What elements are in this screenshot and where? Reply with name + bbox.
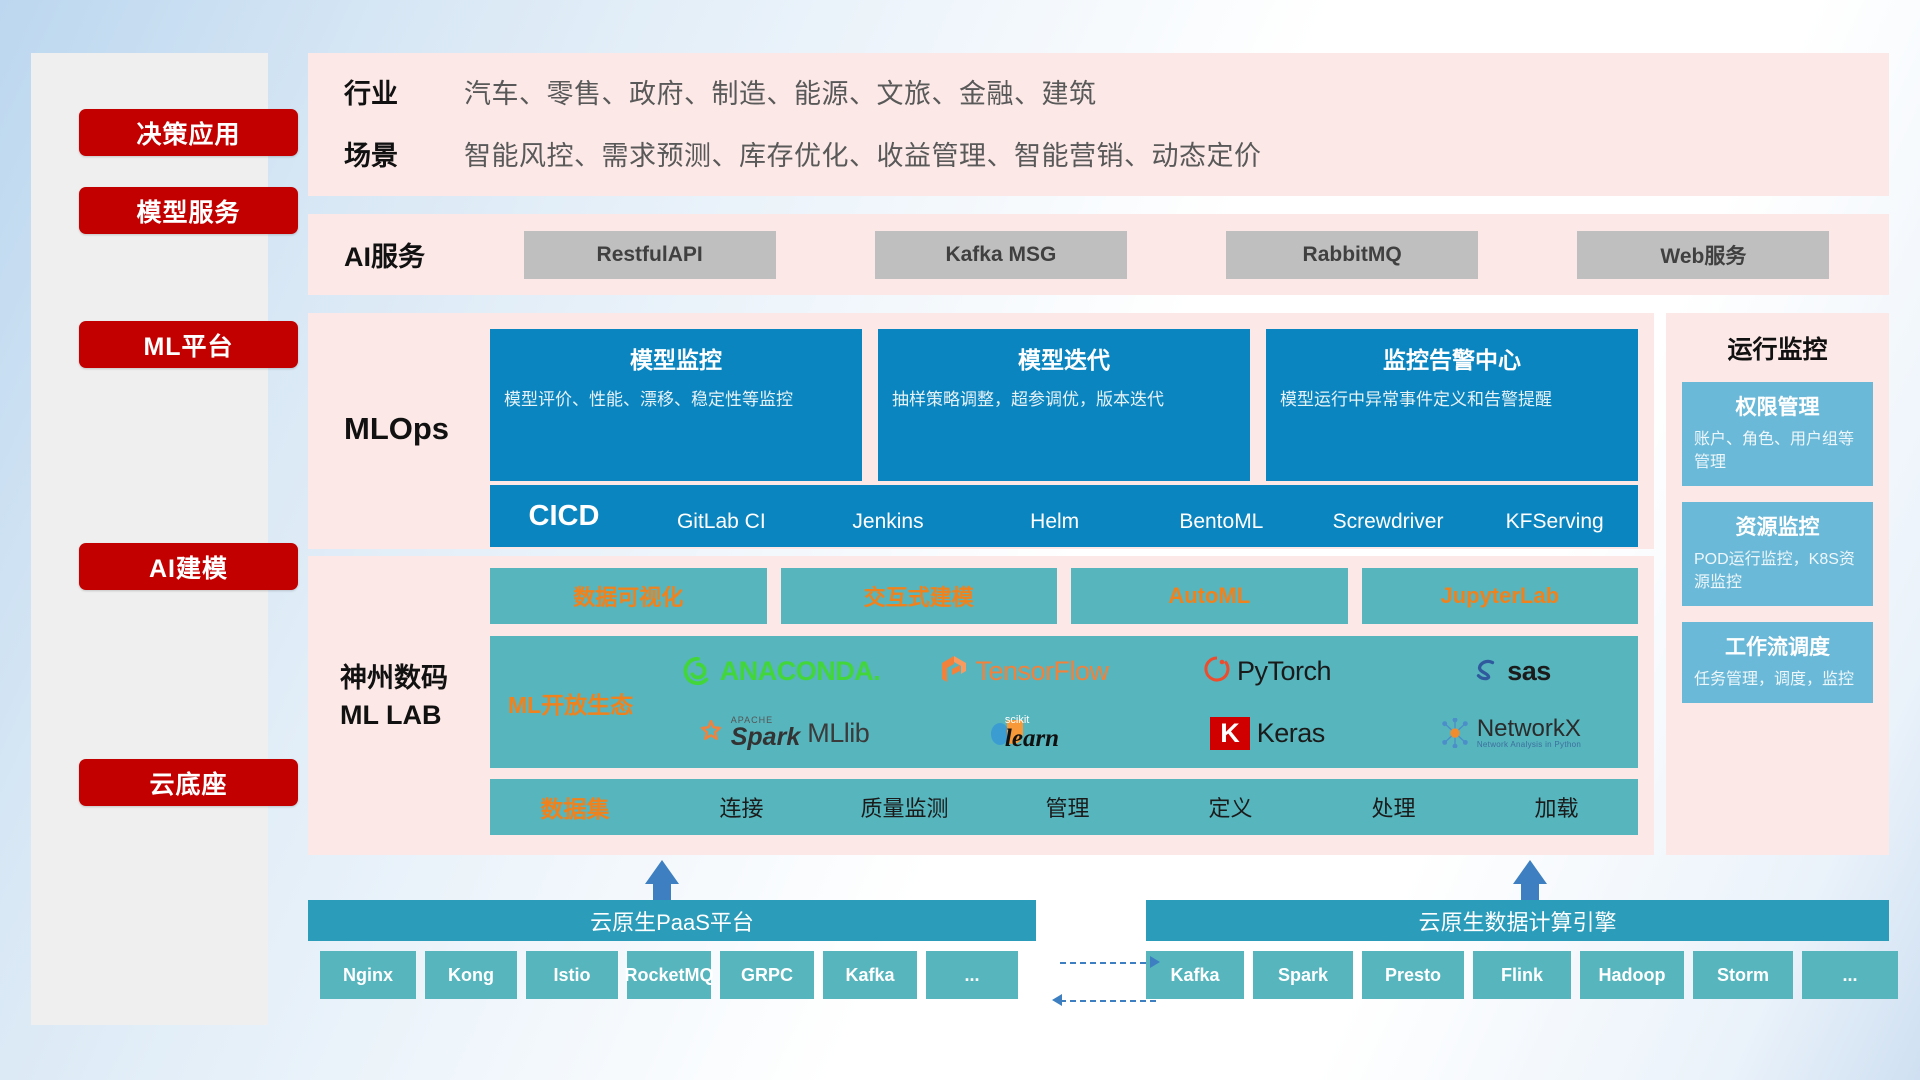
tab-jupyterlab[interactable]: JupyterLab <box>1362 568 1639 624</box>
pytorch-icon <box>1204 656 1230 686</box>
card-desc: POD运行监控，K8S资源监控 <box>1694 548 1861 594</box>
tag-kafka-right[interactable]: Kafka <box>1146 951 1244 999</box>
cicd-item-jenkins[interactable]: Jenkins <box>805 491 972 541</box>
keras-mark-icon: K <box>1210 717 1250 750</box>
sidebar-item-label: 云底座 <box>149 765 227 801</box>
industry-labels: 行业 场景 <box>344 63 464 187</box>
monitor-card-workflow[interactable]: 工作流调度 任务管理，调度，监控 <box>1682 622 1873 703</box>
cicd-items: GitLab CI Jenkins Helm BentoML Screwdriv… <box>638 491 1638 541</box>
ml-ecosystem-logos: ANACONDA. TensorFlow <box>660 640 1632 764</box>
tab-interactive-modeling[interactable]: 交互式建模 <box>781 568 1058 624</box>
tag-more-left[interactable]: ... <box>926 951 1018 999</box>
sidebar-item-label: AI建模 <box>149 549 228 585</box>
tensorflow-wordmark: TensorFlow <box>975 656 1108 687</box>
sidebar-item-label: 模型服务 <box>136 193 240 229</box>
dataset-item-load[interactable]: 加载 <box>1475 791 1638 823</box>
dashed-arrow-left-icon <box>1052 994 1062 1006</box>
dataset-item-define[interactable]: 定义 <box>1149 791 1312 823</box>
pytorch-logo: PyTorch <box>1204 656 1331 687</box>
anaconda-logo: ANACONDA. <box>683 656 881 687</box>
ai-chip-rabbitmq[interactable]: RabbitMQ <box>1226 231 1478 279</box>
ml-lab-title-line2: ML LAB <box>340 697 448 734</box>
sidebar-item-decision-app[interactable]: 决策应用 <box>79 109 298 156</box>
card-desc: 任务管理，调度，监控 <box>1694 668 1861 691</box>
tag-spark[interactable]: Spark <box>1253 951 1353 999</box>
card-title: 监控告警中心 <box>1280 341 1624 375</box>
dataset-item-quality[interactable]: 质量监测 <box>823 791 986 823</box>
tag-grpc[interactable]: GRPC <box>720 951 814 999</box>
tag-storm[interactable]: Storm <box>1693 951 1793 999</box>
networkx-icon <box>1440 718 1470 748</box>
cicd-bar: CICD GitLab CI Jenkins Helm BentoML Scre… <box>490 485 1638 547</box>
industry-values: 汽车、零售、政府、制造、能源、文旅、金融、建筑 智能风控、需求预测、库存优化、收… <box>464 63 1889 187</box>
cicd-item-gitlab-ci[interactable]: GitLab CI <box>638 491 805 541</box>
ai-chip-restfulapi[interactable]: RestfulAPI <box>524 231 776 279</box>
cicd-label: CICD <box>490 500 638 533</box>
tag-more-right[interactable]: ... <box>1802 951 1898 999</box>
industry-scenario-band: 行业 场景 汽车、零售、政府、制造、能源、文旅、金融、建筑 智能风控、需求预测、… <box>308 53 1889 196</box>
dashed-arrow-right-icon <box>1150 956 1160 968</box>
sas-icon <box>1470 656 1500 686</box>
compute-tag-row: Kafka Spark Presto Flink Hadoop Storm ..… <box>1146 951 1898 999</box>
runtime-monitor-panel: 运行监控 权限管理 账户、角色、用户组等管理 资源监控 POD运行监控，K8S资… <box>1666 313 1889 855</box>
sidebar-item-model-service[interactable]: 模型服务 <box>79 187 298 234</box>
keras-logo: K Keras <box>1210 717 1325 750</box>
tag-kong[interactable]: Kong <box>425 951 517 999</box>
ai-chip-kafka-msg[interactable]: Kafka MSG <box>875 231 1127 279</box>
scikit-learn-logo: scikit learn <box>990 714 1059 752</box>
industry-value: 汽车、零售、政府、制造、能源、文旅、金融、建筑 <box>464 63 1889 125</box>
mlops-cards: 模型监控 模型评价、性能、漂移、稳定性等监控 模型迭代 抽样策略调整，超参调优，… <box>490 329 1638 481</box>
dataset-bar: 数据集 连接 质量监测 管理 定义 处理 加载 <box>490 779 1638 835</box>
dashed-connector-bottom <box>1060 1000 1156 1002</box>
card-title: 权限管理 <box>1694 391 1861 421</box>
cicd-item-kfserving[interactable]: KFServing <box>1471 491 1638 541</box>
tensorflow-logo: TensorFlow <box>940 655 1108 687</box>
tab-automl[interactable]: AutoML <box>1071 568 1348 624</box>
anaconda-icon <box>683 656 713 686</box>
card-title: 模型迭代 <box>892 341 1236 375</box>
ml-ecosystem-label: ML开放生态 <box>508 686 633 720</box>
tag-hadoop[interactable]: Hadoop <box>1580 951 1684 999</box>
tag-istio[interactable]: Istio <box>526 951 618 999</box>
cicd-item-screwdriver[interactable]: Screwdriver <box>1305 491 1472 541</box>
anaconda-wordmark: ANACONDA. <box>720 656 881 687</box>
industry-label: 行业 <box>344 63 464 125</box>
networkx-logo: NetworkX Network Analysis in Python <box>1440 716 1581 750</box>
scenario-value: 智能风控、需求预测、库存优化、收益管理、智能营销、动态定价 <box>464 125 1889 187</box>
sidebar-item-ml-platform[interactable]: ML平台 <box>79 321 298 368</box>
ai-service-items: RestfulAPI Kafka MSG RabbitMQ Web服务 <box>464 231 1889 279</box>
ai-service-title: AI服务 <box>344 235 464 274</box>
tag-nginx[interactable]: Nginx <box>320 951 416 999</box>
paas-tag-row: Nginx Kong Istio RocketMQ GRPC Kafka ... <box>320 951 1018 999</box>
networkx-wordmark: NetworkX Network Analysis in Python <box>1477 716 1581 750</box>
tensorflow-icon <box>940 655 968 687</box>
spark-mllib-logo: APACHE Spark MLlib <box>694 716 870 750</box>
card-title: 模型监控 <box>504 341 848 375</box>
card-desc: 模型评价、性能、漂移、稳定性等监控 <box>504 387 848 412</box>
sidebar-item-cloud-base[interactable]: 云底座 <box>79 759 298 806</box>
tag-kafka[interactable]: Kafka <box>823 951 917 999</box>
scikit-learn-wordmark: scikit learn <box>1005 715 1059 751</box>
pytorch-wordmark: PyTorch <box>1237 656 1331 687</box>
dataset-items: 连接 质量监测 管理 定义 处理 加载 <box>660 791 1638 823</box>
spark-wordmark: APACHE Spark <box>731 716 800 750</box>
ai-service-band: AI服务 RestfulAPI Kafka MSG RabbitMQ Web服务 <box>308 214 1889 295</box>
ml-lab-inner: 数据可视化 交互式建模 AutoML JupyterLab ML开放生态 ANA… <box>490 568 1638 842</box>
sidebar-item-label: 决策应用 <box>136 115 240 151</box>
ml-lab-title: 神州数码 ML LAB <box>340 660 448 734</box>
dashed-connector-top <box>1060 962 1156 964</box>
ai-chip-web-service[interactable]: Web服务 <box>1577 231 1829 279</box>
sas-logo: sas <box>1470 656 1551 687</box>
monitor-card-permissions[interactable]: 权限管理 账户、角色、用户组等管理 <box>1682 382 1873 486</box>
ml-ecosystem-panel: ML开放生态 ANACONDA. <box>490 636 1638 768</box>
mlops-card-alert-center[interactable]: 监控告警中心 模型运行中异常事件定义和告警提醒 <box>1266 329 1638 481</box>
ml-lab-title-line1: 神州数码 <box>340 660 448 697</box>
card-title: 工作流调度 <box>1694 631 1861 661</box>
mlops-band: MLOps 模型监控 模型评价、性能、漂移、稳定性等监控 模型迭代 抽样策略调整… <box>308 313 1654 549</box>
tag-flink[interactable]: Flink <box>1473 951 1571 999</box>
mlops-title: MLOps <box>344 411 449 447</box>
card-desc: 模型运行中异常事件定义和告警提醒 <box>1280 387 1624 412</box>
mlops-card-model-iteration[interactable]: 模型迭代 抽样策略调整，超参调优，版本迭代 <box>878 329 1250 481</box>
keras-wordmark: Keras <box>1257 718 1325 749</box>
scenario-label: 场景 <box>344 125 464 187</box>
mlops-card-model-monitoring[interactable]: 模型监控 模型评价、性能、漂移、稳定性等监控 <box>490 329 862 481</box>
tag-rocketmq[interactable]: RocketMQ <box>627 951 711 999</box>
monitor-card-resources[interactable]: 资源监控 POD运行监控，K8S资源监控 <box>1682 502 1873 606</box>
runtime-monitor-title: 运行监控 <box>1666 313 1889 382</box>
dataset-label: 数据集 <box>490 790 660 824</box>
tag-presto[interactable]: Presto <box>1362 951 1464 999</box>
ml-lab-band: 神州数码 ML LAB 数据可视化 交互式建模 AutoML JupyterLa… <box>308 556 1654 855</box>
arrow-up-right-icon <box>1513 860 1547 884</box>
tab-data-visualization[interactable]: 数据可视化 <box>490 568 767 624</box>
spark-star-icon <box>694 720 724 746</box>
sidebar-item-label: ML平台 <box>143 327 233 363</box>
sas-wordmark: sas <box>1507 656 1551 687</box>
ml-lab-tabs: 数据可视化 交互式建模 AutoML JupyterLab <box>490 568 1638 624</box>
dataset-item-process[interactable]: 处理 <box>1312 791 1475 823</box>
paas-platform-bar[interactable]: 云原生PaaS平台 <box>308 900 1036 941</box>
sidebar-item-ai-modeling[interactable]: AI建模 <box>79 543 298 590</box>
card-title: 资源监控 <box>1694 511 1861 541</box>
dataset-item-connect[interactable]: 连接 <box>660 791 823 823</box>
diagram-canvas: 决策应用 模型服务 ML平台 AI建模 云底座 行业 场景 汽车、零售、政府、制… <box>0 0 1920 1080</box>
dataset-item-manage[interactable]: 管理 <box>986 791 1149 823</box>
card-desc: 抽样策略调整，超参调优，版本迭代 <box>892 387 1236 412</box>
arrow-up-left-icon <box>645 860 679 884</box>
layer-rail: 决策应用 模型服务 ML平台 AI建模 云底座 <box>31 53 268 1025</box>
cicd-item-helm[interactable]: Helm <box>971 491 1138 541</box>
mllib-wordmark: MLlib <box>807 718 869 749</box>
card-desc: 账户、角色、用户组等管理 <box>1694 428 1861 474</box>
data-compute-engine-bar[interactable]: 云原生数据计算引擎 <box>1146 900 1889 941</box>
cicd-item-bentoml[interactable]: BentoML <box>1138 491 1305 541</box>
